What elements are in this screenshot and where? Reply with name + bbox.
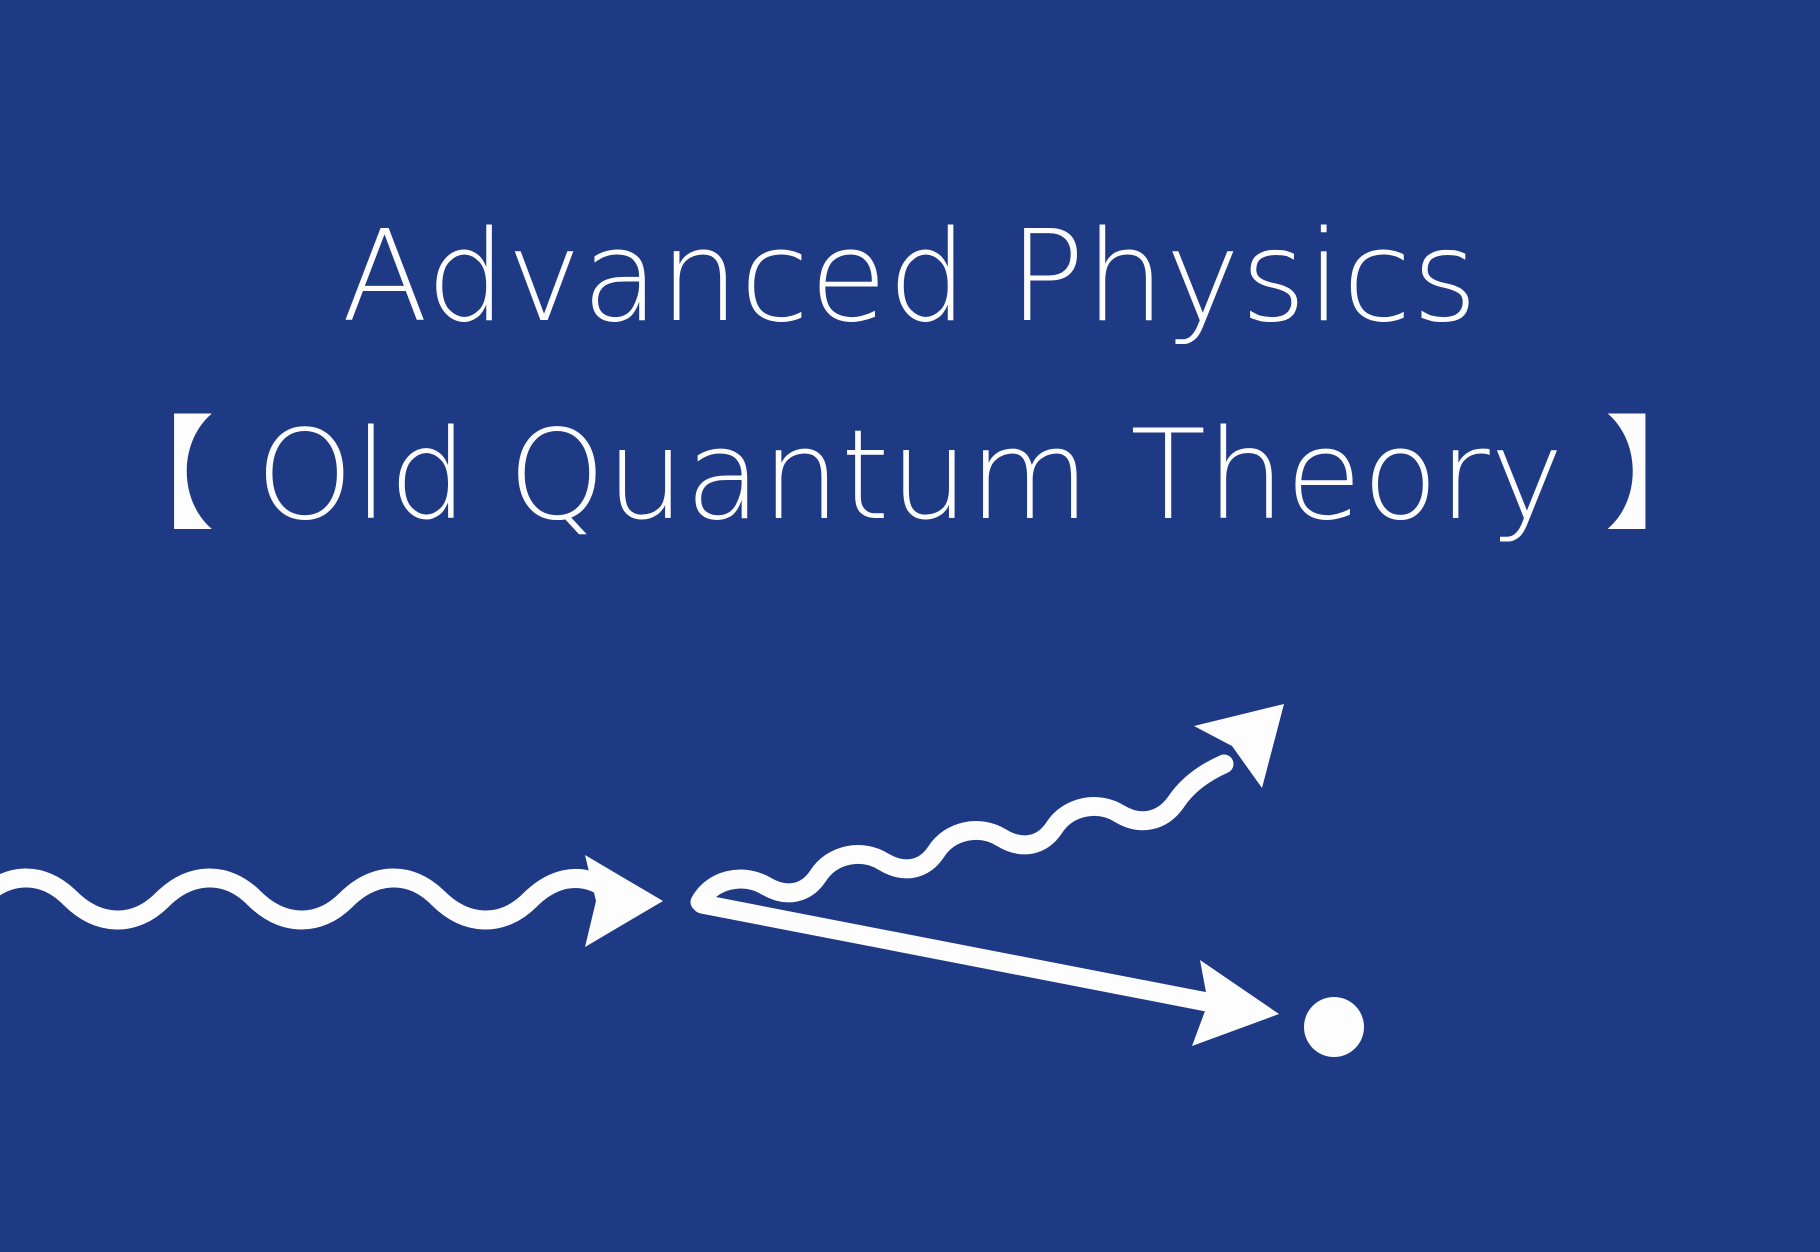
incident-photon-arrowhead [585,855,663,947]
recoil-electron-group [702,904,1279,1046]
scattered-photon-wave [700,764,1224,902]
slide-canvas: Advanced Physics 【 Old Quantum Theory 】 [0,0,1820,1252]
compton-scattering-diagram [0,0,1820,1252]
incident-photon-wave [0,878,602,920]
incident-photon-group [0,855,663,947]
recoil-electron-shaft [702,904,1212,1003]
electron-particle [1304,997,1364,1057]
scattered-photon-group [700,704,1284,902]
